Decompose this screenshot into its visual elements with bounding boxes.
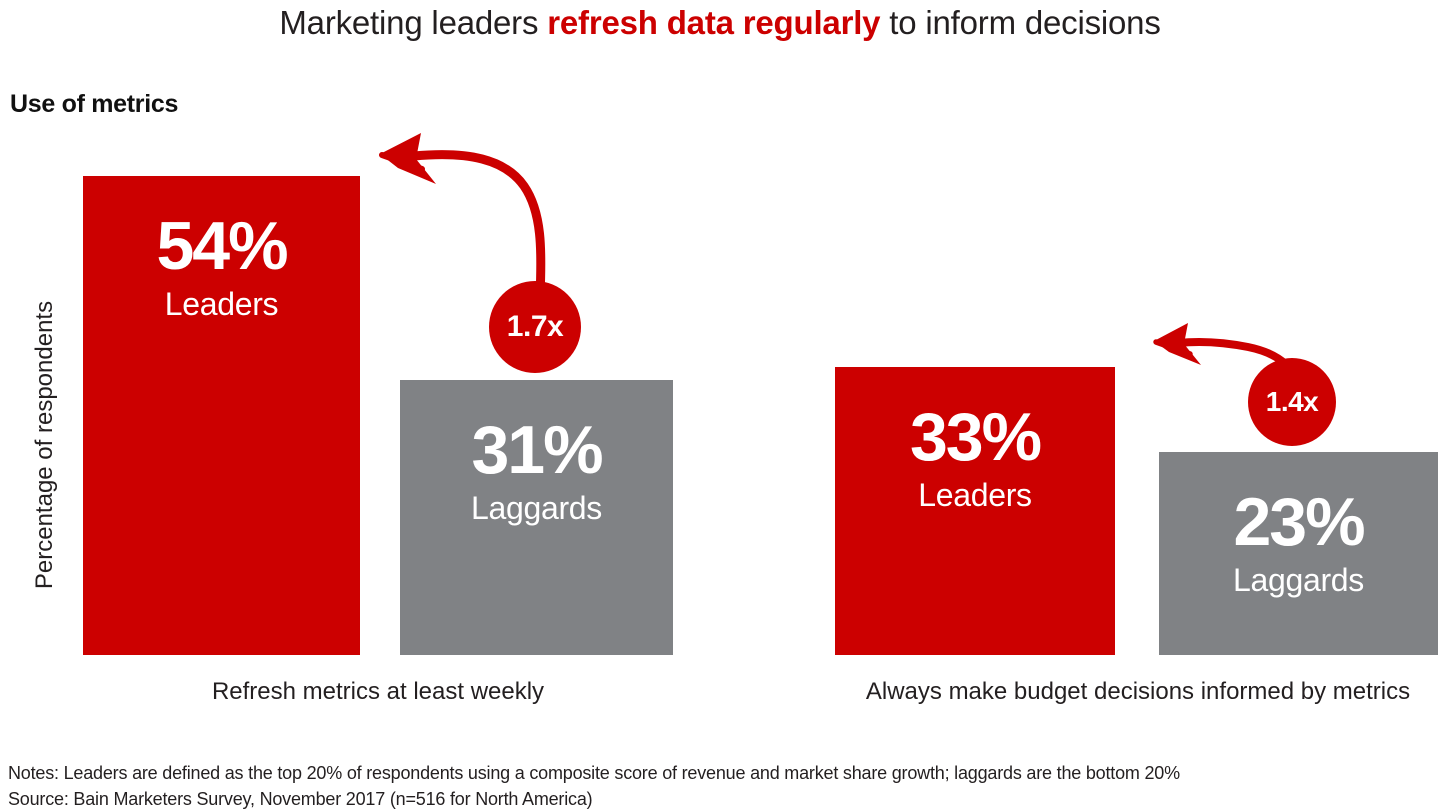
bar-series-label: Laggards (1159, 564, 1438, 596)
chart-canvas: Marketing leaders refresh data regularly… (0, 0, 1440, 810)
bar-group2-leaders: 33% Leaders (835, 367, 1115, 655)
bar-value-label: 31% (400, 416, 673, 484)
bar-series-label: Leaders (835, 479, 1115, 511)
bar-series-label: Laggards (400, 492, 673, 524)
category-label-2: Always make budget decisions informed by… (836, 678, 1440, 706)
annotation-arrow-1 (372, 120, 572, 300)
multiplier-badge-1: 1.7x (489, 281, 581, 373)
bar-group2-laggards: 23% Laggards (1159, 452, 1438, 655)
footnote-notes: Notes: Leaders are defined as the top 20… (8, 761, 1180, 787)
plot-area: 54% Leaders 31% Laggards 33% Leaders 23%… (0, 0, 1440, 810)
category-label-1: Refresh metrics at least weekly (78, 678, 678, 706)
bar-series-label: Leaders (83, 288, 360, 320)
footnotes: Notes: Leaders are defined as the top 20… (8, 761, 1180, 810)
footnote-source: Source: Bain Marketers Survey, November … (8, 787, 1180, 810)
bar-value-label: 33% (835, 403, 1115, 471)
bar-group1-leaders: 54% Leaders (83, 176, 360, 655)
bar-value-label: 54% (83, 212, 360, 280)
bar-group1-laggards: 31% Laggards (400, 380, 673, 655)
bar-value-label: 23% (1159, 488, 1438, 556)
multiplier-badge-2: 1.4x (1248, 358, 1336, 446)
